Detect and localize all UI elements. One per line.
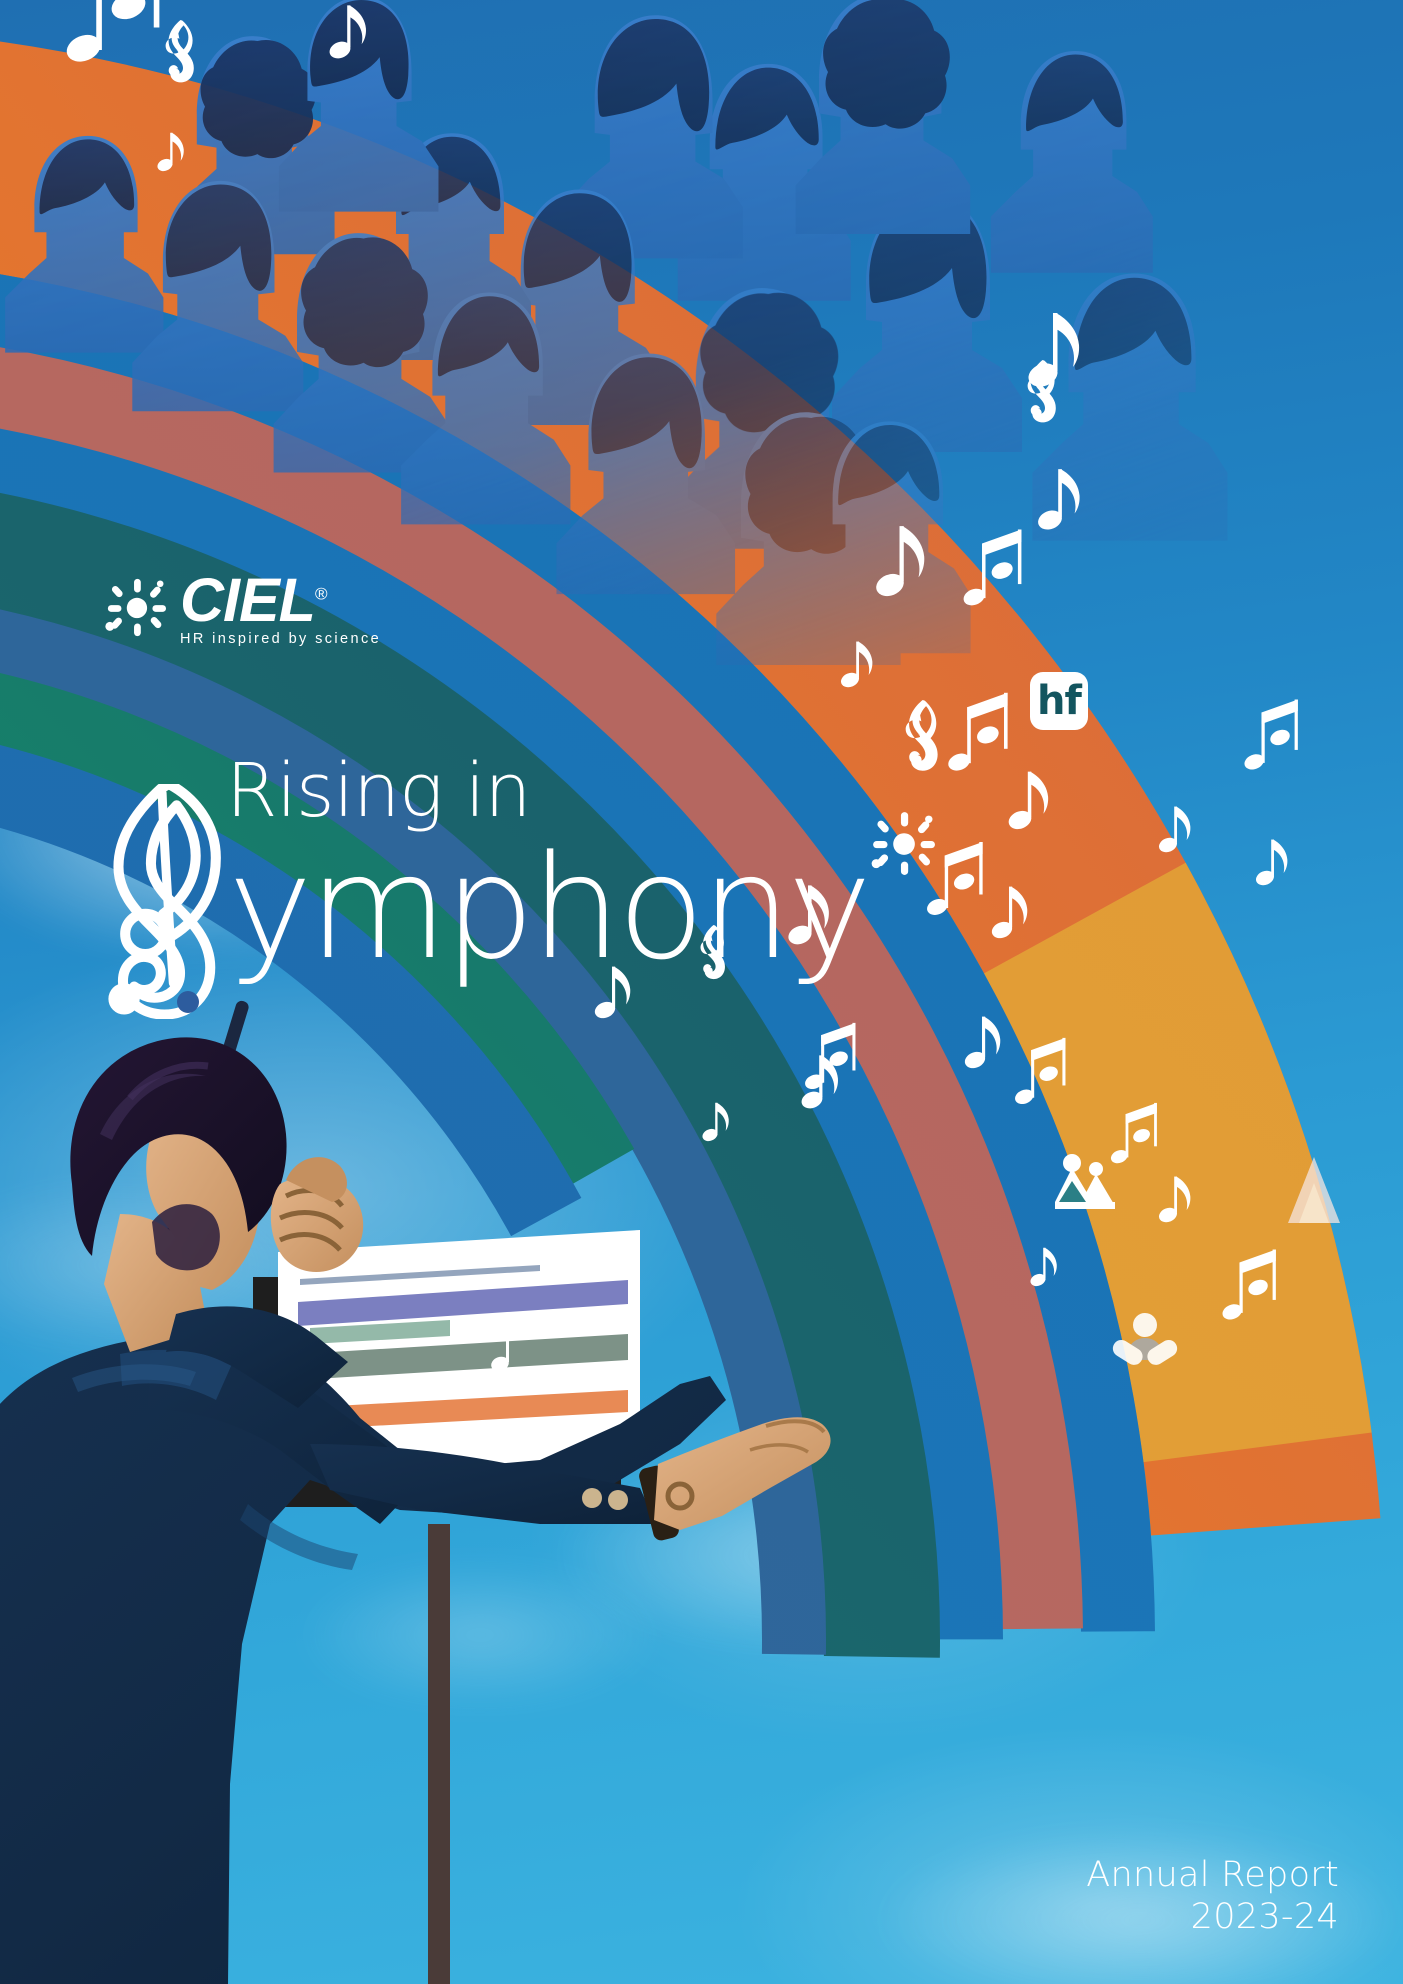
music-note-icon — [873, 526, 924, 600]
music-note-icon — [946, 693, 1008, 774]
music-note-icon — [327, 5, 366, 61]
title-line-1: Rising in — [226, 748, 530, 834]
music-note-icon — [1029, 1248, 1057, 1288]
music-note-icon — [962, 1017, 1000, 1071]
triangle-peak-icon — [1286, 1155, 1342, 1227]
orchestra-conductor — [0, 884, 880, 1984]
music-note-icon — [961, 529, 1021, 608]
music-note-icon — [1254, 840, 1288, 888]
report-footer: Annual Report 2023-24 — [1086, 1854, 1339, 1938]
starburst-icon — [104, 576, 166, 638]
hf-badge: hf — [1030, 672, 1088, 730]
music-note-icon — [1242, 700, 1298, 773]
hf-badge-label: hf — [1030, 672, 1088, 730]
report-period: 2023-24 — [1086, 1896, 1339, 1938]
music-note-icon — [156, 133, 184, 173]
music-note-icon — [1013, 1038, 1066, 1107]
brand-name: CIEL® — [180, 572, 326, 629]
music-note-icon — [1035, 469, 1079, 533]
music-note-icon — [1157, 1177, 1191, 1225]
registered-mark: ® — [315, 585, 327, 604]
music-note-icon — [1157, 807, 1191, 855]
treble-clef-icon — [166, 20, 194, 82]
report-label: Annual Report — [1086, 1854, 1339, 1896]
music-stand-pole — [428, 1524, 450, 1984]
brand-logo[interactable]: CIEL® HR inspired by science — [104, 572, 381, 647]
treble-clef-icon — [906, 700, 938, 771]
annual-report-cover: hf — [0, 0, 1403, 1984]
music-note-icon — [1220, 1250, 1276, 1323]
music-note-icon — [63, 0, 160, 66]
brand-name-text: CIEL — [180, 566, 315, 634]
music-note-icon — [839, 642, 873, 690]
mountain-people-icon — [1055, 1152, 1127, 1214]
starburst-icon — [870, 810, 936, 876]
conductor-left-hand — [271, 1157, 363, 1272]
person-group-icon — [1112, 1312, 1178, 1372]
music-note-icon — [989, 887, 1027, 941]
music-note-icon — [1006, 772, 1048, 833]
